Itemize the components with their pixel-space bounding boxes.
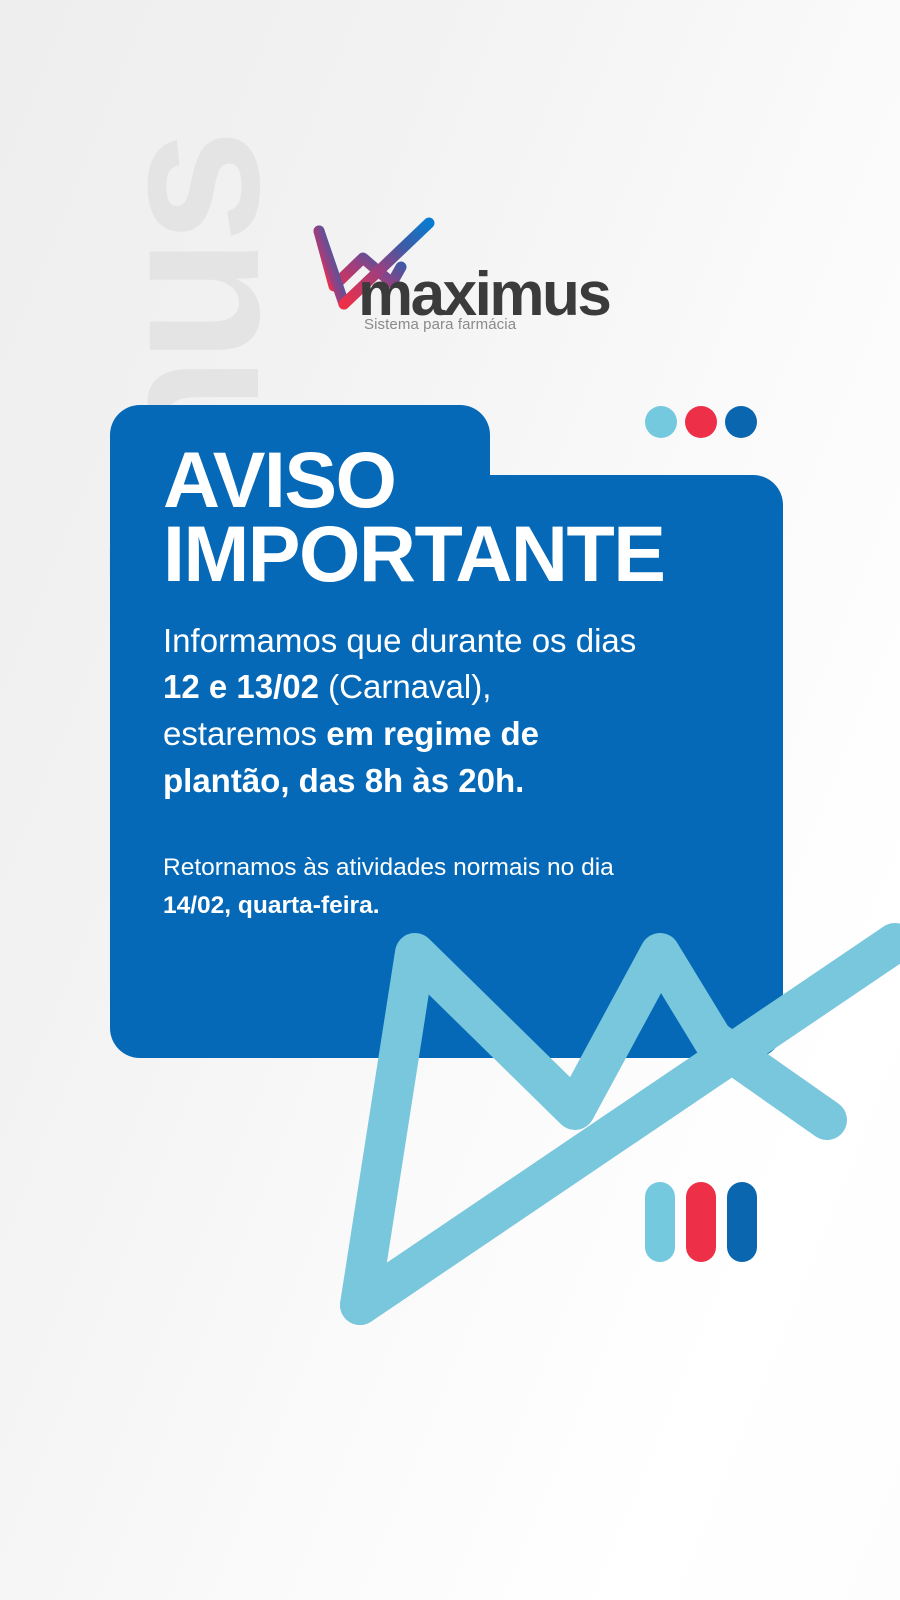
- decorative-pill-row: [645, 1182, 763, 1262]
- dot-dark-blue-icon: [725, 406, 757, 438]
- logo-tagline: Sistema para farmácia: [364, 316, 516, 333]
- announcement-secondary-paragraph: Retornamos às atividades normais no dia …: [163, 849, 633, 925]
- decorative-dot-row: [645, 406, 757, 438]
- dot-light-blue-icon: [645, 406, 677, 438]
- pill-red-icon: [686, 1182, 716, 1262]
- pill-dark-blue-icon: [727, 1182, 757, 1262]
- announcement-main-paragraph: Informamos que durante os dias 12 e 13/0…: [163, 618, 643, 805]
- dot-red-icon: [685, 406, 717, 438]
- announcement-poster: maximus maximus Sistema para farmácia AV…: [0, 0, 900, 1600]
- page-title: AVISO IMPORTANTE: [163, 443, 683, 592]
- brand-logo: maximus Sistema para farmácia: [306, 212, 586, 337]
- headline-line-2: IMPORTANTE: [163, 517, 683, 591]
- pill-light-blue-icon: [645, 1182, 675, 1262]
- large-mx-chart-graphic-icon: [330, 905, 900, 1335]
- card-content: AVISO IMPORTANTE Informamos que durante …: [163, 443, 683, 925]
